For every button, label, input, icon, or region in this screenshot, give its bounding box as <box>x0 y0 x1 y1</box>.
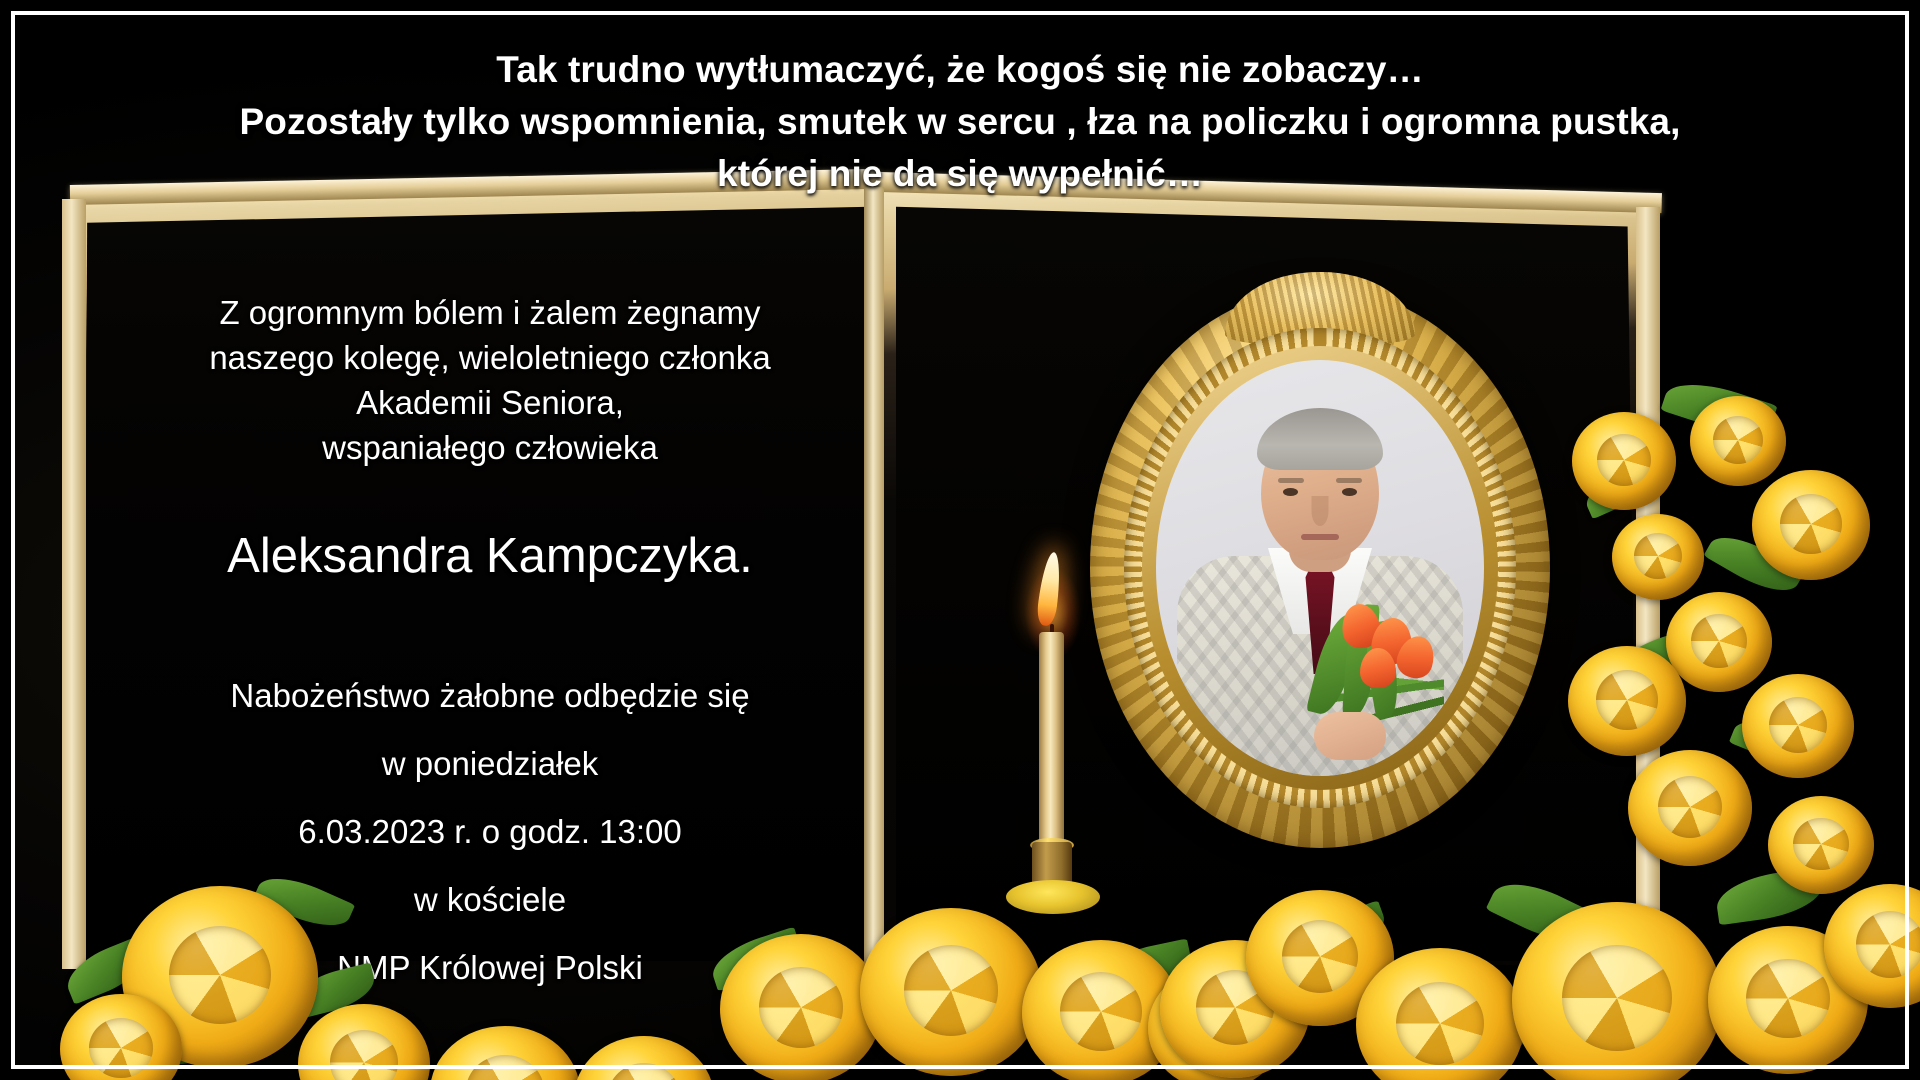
announcement-intro: Z ogromnym bólem i żalem żegnamy naszego… <box>140 290 840 470</box>
deceased-name: Aleksandra Kampczyka. <box>140 526 840 586</box>
portrait-mouth <box>1301 534 1339 540</box>
book-spine <box>864 187 884 967</box>
portrait-hands <box>1314 712 1386 760</box>
portrait-eyebrow-left <box>1278 478 1304 483</box>
verse-line-1: Tak trudno wytłumaczyć, że kogoś się nie… <box>0 44 1920 96</box>
memorial-verse: Tak trudno wytłumaczyć, że kogoś się nie… <box>0 44 1920 200</box>
rose-bloom <box>430 1026 580 1080</box>
rose-cluster-bottom-left <box>60 876 740 1080</box>
service-line-3: 6.03.2023 r. o godz. 13:00 <box>140 798 840 866</box>
verse-line-3: której nie da się wypełnić… <box>0 148 1920 200</box>
rose-bloom <box>1742 674 1854 778</box>
rose-bloom <box>1628 750 1752 866</box>
rose-bloom <box>298 1004 430 1080</box>
candle-body <box>1039 632 1064 850</box>
portrait-eye-right <box>1342 488 1357 496</box>
rose-bloom <box>1752 470 1870 580</box>
rose-bloom <box>574 1036 714 1080</box>
rose-bloom <box>1568 646 1686 756</box>
service-line-2: w poniedziałek <box>140 730 840 798</box>
intro-line-4: wspaniałego człowieka <box>140 425 840 470</box>
rose-bloom <box>1572 412 1676 510</box>
intro-line-2: naszego kolegę, wieloletniego członka <box>140 335 840 380</box>
rose-cluster-right-side <box>1556 396 1920 866</box>
portrait-eyebrow-right <box>1336 478 1362 483</box>
rose-bloom <box>1612 514 1704 600</box>
rose-bloom <box>1690 396 1786 486</box>
rose-bloom <box>1768 796 1874 894</box>
portrait-frame <box>1090 288 1550 848</box>
portrait-nose <box>1312 496 1329 526</box>
rose-bloom <box>1666 592 1772 692</box>
portrait-photo <box>1156 360 1484 776</box>
verse-line-2: Pozostały tylko wspomnienia, smutek w se… <box>0 96 1920 148</box>
rose-bloom <box>720 934 882 1080</box>
service-line-1: Nabożeństwo żałobne odbędzie się <box>140 662 840 730</box>
intro-line-3: Akademii Seniora, <box>140 380 840 425</box>
memorial-card: Tak trudno wytłumaczyć, że kogoś się nie… <box>0 0 1920 1080</box>
book-page-edge-side-left <box>62 199 86 969</box>
rose-bloom <box>1512 902 1722 1080</box>
portrait-hair <box>1257 408 1383 470</box>
intro-line-1: Z ogromnym bólem i żalem żegnamy <box>140 290 840 335</box>
rose-bloom <box>860 908 1042 1076</box>
memorial-candle <box>1008 556 1098 916</box>
portrait-eye-left <box>1283 488 1298 496</box>
